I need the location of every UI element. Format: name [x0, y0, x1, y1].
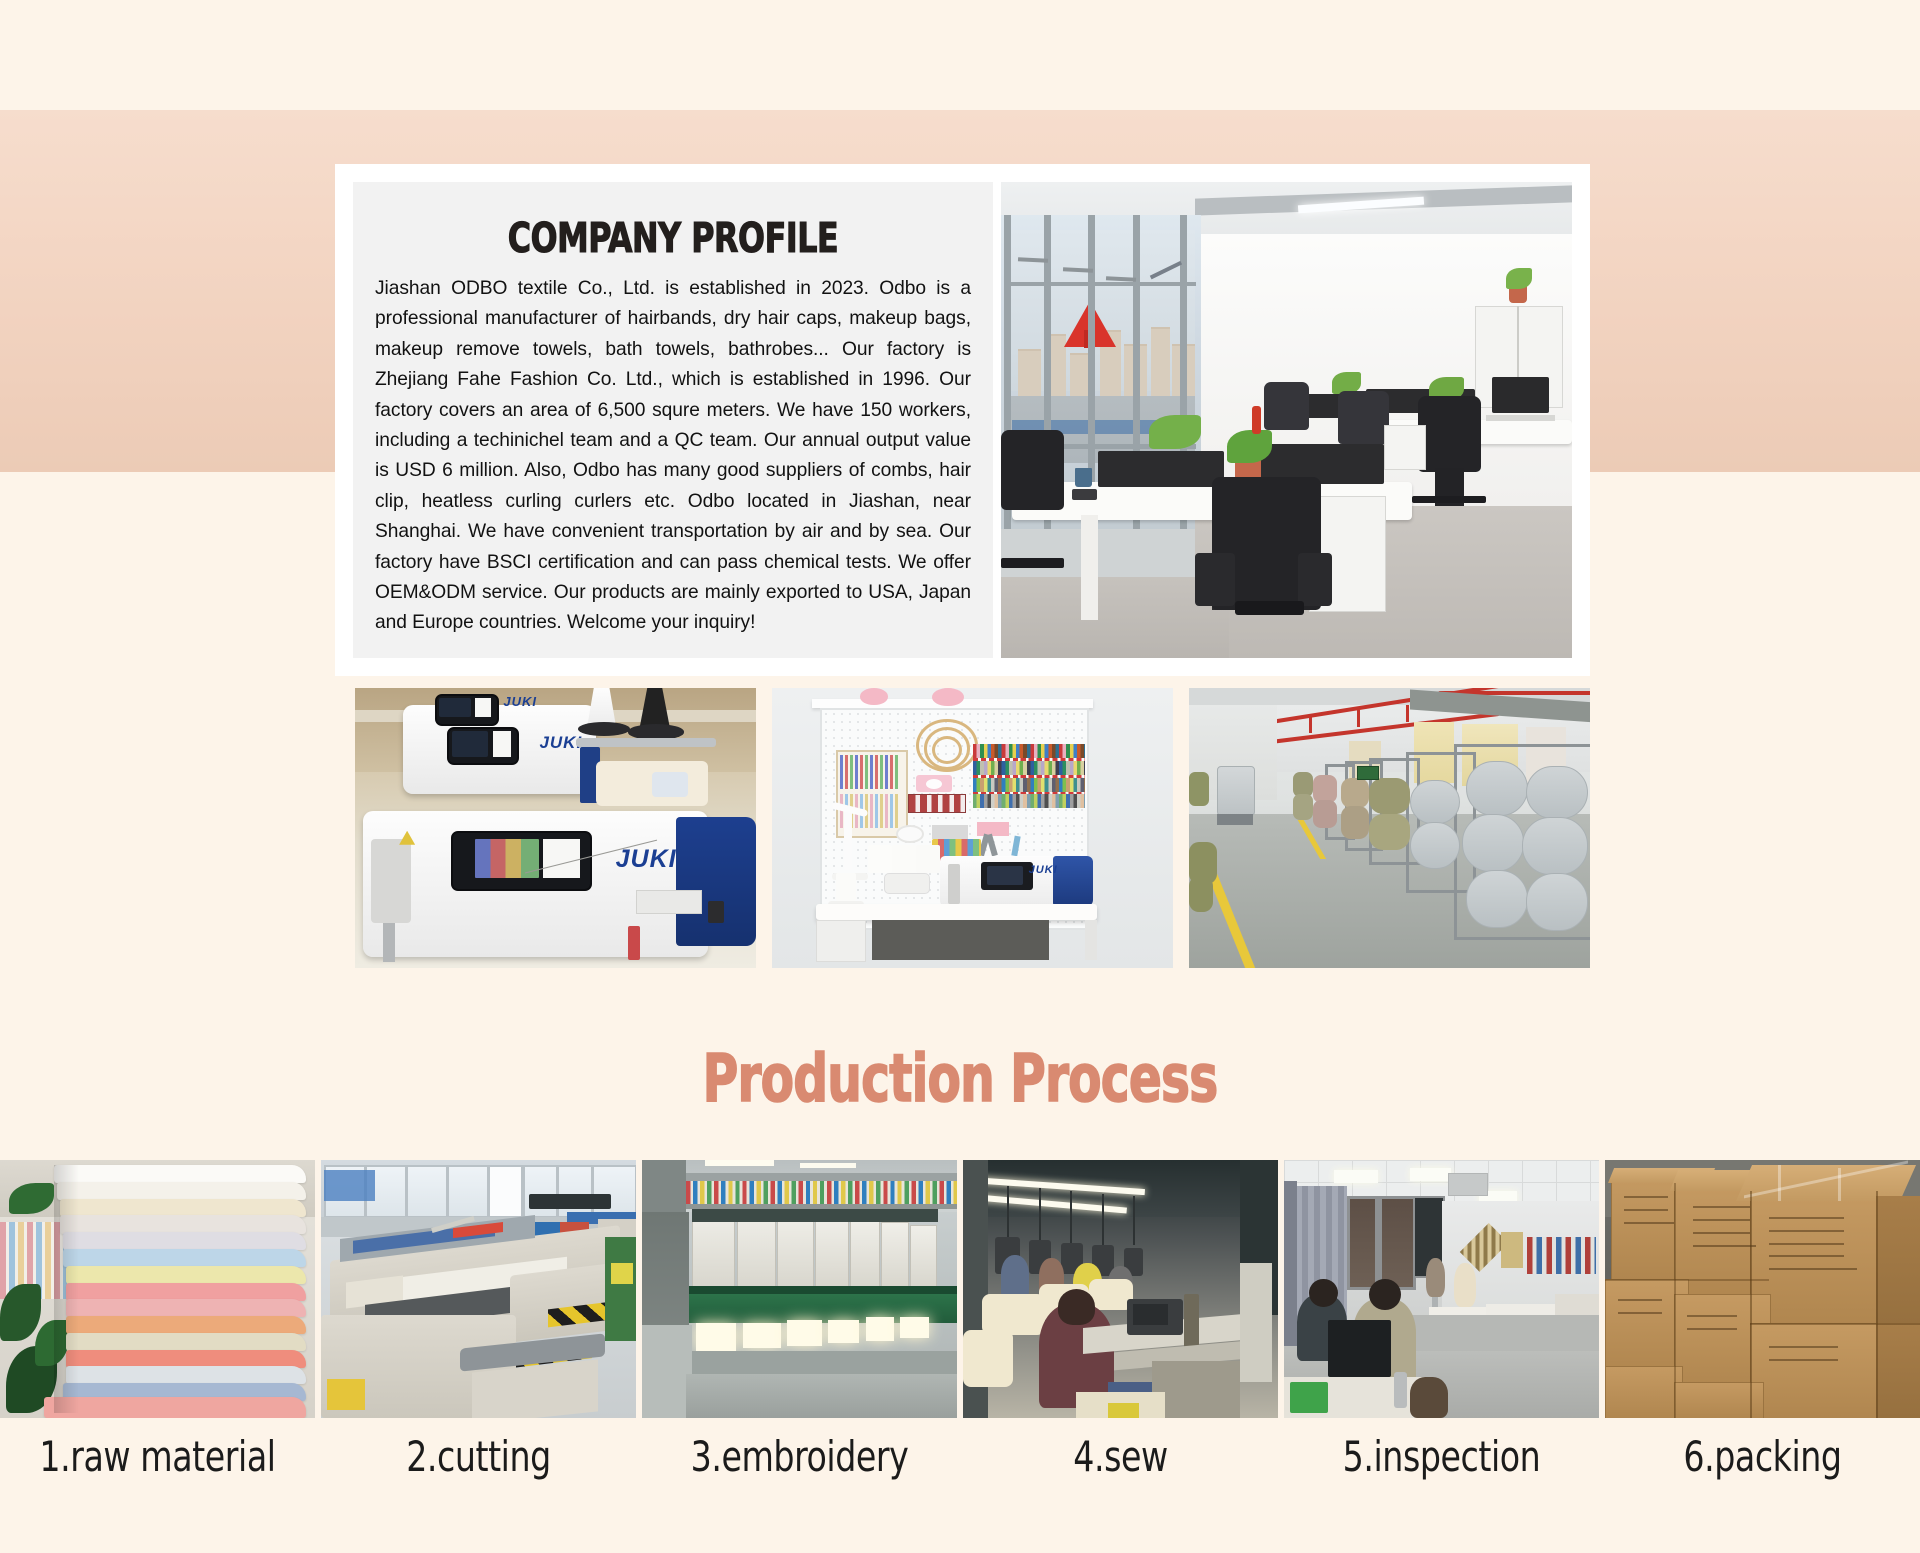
factory-photo-row: JUKI JUKI JUKI	[355, 688, 1590, 968]
inspection-scene	[1284, 1160, 1599, 1418]
process-label-raw-material: 1.raw material	[19, 1432, 296, 1502]
pegboard-scene: JUKI	[772, 688, 1173, 968]
juki-logo-text-4: JUKI	[1029, 864, 1058, 876]
process-label-inspection: 5.inspection	[1303, 1432, 1580, 1502]
process-photo-row	[0, 1160, 1920, 1418]
process-photo-embroidery	[642, 1160, 957, 1418]
process-photo-inspection	[1284, 1160, 1599, 1418]
juki-logo-text-3: JUKI	[616, 845, 677, 874]
section-title: Production Process	[173, 1040, 1747, 1117]
process-label-sew: 4.sew	[982, 1432, 1259, 1502]
boxes-scene	[1605, 1160, 1920, 1418]
sewing-workstation-pegboard-photo: JUKI	[772, 688, 1173, 968]
juki-sewing-machines-photo: JUKI JUKI JUKI	[355, 688, 756, 968]
company-profile-text-pane: COMPANY PROFILE Jiashan ODBO textile Co.…	[353, 182, 993, 658]
page-title: COMPANY PROFILE	[417, 214, 930, 262]
warehouse-scene	[1189, 688, 1590, 968]
process-photo-cutting	[321, 1160, 636, 1418]
process-photo-packing	[1605, 1160, 1920, 1418]
process-label-cutting: 2.cutting	[340, 1432, 617, 1502]
juki-scene: JUKI JUKI JUKI	[355, 688, 756, 968]
company-profile-card: COMPANY PROFILE Jiashan ODBO textile Co.…	[335, 164, 1590, 676]
process-label-packing: 6.packing	[1624, 1432, 1901, 1502]
office-scene	[1001, 182, 1572, 658]
sew-scene	[963, 1160, 1278, 1418]
towels-scene	[0, 1160, 315, 1418]
fabric-warehouse-photo	[1189, 688, 1590, 968]
juki-logo-text: JUKI	[503, 694, 537, 709]
office-workspace-photo	[1001, 182, 1572, 658]
company-profile-body: Jiashan ODBO textile Co., Ltd. is establ…	[375, 274, 971, 639]
process-photo-sew	[963, 1160, 1278, 1418]
process-label-embroidery: 3.embroidery	[661, 1432, 938, 1502]
process-photo-raw-material	[0, 1160, 315, 1418]
cutting-scene	[321, 1160, 636, 1418]
process-label-row: 1.raw material 2.cutting 3.embroidery 4.…	[0, 1432, 1920, 1502]
embroidery-scene	[642, 1160, 957, 1418]
